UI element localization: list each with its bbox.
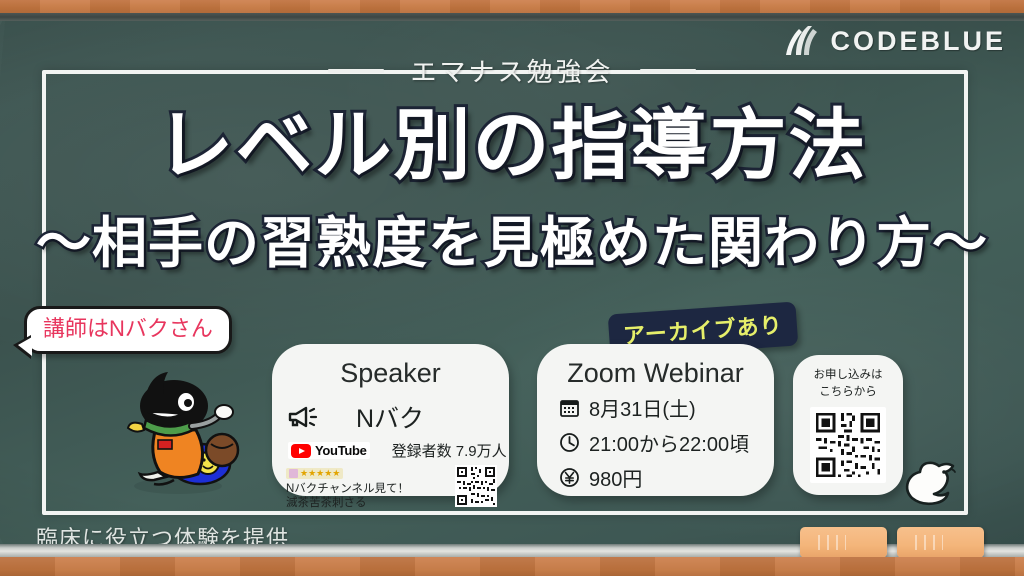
signup-qr-line-1: お申し込みは (793, 355, 903, 384)
reviewer-avatar (289, 469, 298, 478)
fox-illustration (903, 460, 961, 510)
flyer-canvas: CODEBLUE エマナス勉強会 レベル別の指導方法 〜相手の習熟度を見極めた関… (0, 0, 1024, 576)
speaker-review-row: ★★★★★ Nバクチャンネル見て！ 滅茶苦茶刺さる (272, 461, 509, 510)
wall-bottom-strip (0, 557, 1024, 576)
review-stars-badge: ★★★★★ (286, 468, 343, 479)
webinar-price-text: 980円 (589, 463, 642, 492)
eyebrow-text: エマナス勉強会 (410, 52, 613, 89)
chalk-eraser (897, 527, 984, 558)
review-line-1: Nバクチャンネル見て！ (286, 483, 449, 497)
speaker-review: ★★★★★ Nバクチャンネル見て！ 滅茶苦茶刺さる (286, 465, 449, 510)
signup-qr-code[interactable] (810, 407, 886, 483)
wall-top-strip (0, 0, 1024, 13)
eyebrow-rule-left (328, 69, 384, 73)
speaker-card-title: Speaker (272, 344, 509, 387)
brand-logo-text: CODEBLUE (830, 28, 1006, 55)
speaker-youtube-row: YouTube 登録者数 7.9万人 (272, 440, 509, 461)
chalk-eraser (800, 527, 887, 558)
megaphone-icon (288, 405, 318, 429)
page-title: レベル別の指導方法 (0, 108, 1024, 185)
youtube-wordmark: YouTube (315, 443, 367, 458)
speaker-name-row: Nバク (272, 399, 509, 435)
calendar-icon (559, 397, 580, 418)
page-subtitle: 〜相手の習熟度を見極めた関わり方〜 (0, 216, 1024, 271)
webinar-time-text: 21:00から22:00頃 (589, 428, 749, 457)
speech-bubble-text: 講師はNバクさん (43, 317, 213, 341)
speaker-name: Nバク (356, 399, 424, 435)
webinar-time-row: 21:00から22:00頃 (537, 428, 774, 457)
subscriber-count: 登録者数 7.9万人 (392, 440, 507, 461)
webinar-card-title: Zoom Webinar (537, 344, 774, 387)
review-stars: ★★★★★ (300, 468, 340, 479)
speech-bubble: 講師はNバクさん (24, 306, 232, 354)
speaker-qr-code[interactable] (455, 465, 497, 507)
webinar-date-row: 8月31日(土) (537, 393, 774, 422)
speaker-card: Speaker Nバク YouTube 登録者数 7.9万人 ★★★★★ (272, 344, 509, 496)
webinar-price-row: 980円 (537, 463, 774, 492)
review-line-2: 滅茶苦茶刺さる (286, 497, 449, 511)
youtube-logo: YouTube (288, 442, 370, 459)
webinar-card: Zoom Webinar 8月31日(土) 21:00から22:00頃 980円 (537, 344, 774, 496)
nbaku-character-illustration (112, 368, 244, 498)
yen-icon (559, 467, 580, 488)
webinar-date-text: 8月31日(土) (589, 393, 696, 422)
youtube-play-icon (291, 444, 311, 458)
board-frame-top (0, 13, 1024, 21)
signup-qr-card[interactable]: お申し込みは こちらから (793, 355, 903, 495)
speech-bubble-tail-inner (18, 337, 32, 356)
signup-qr-line-2: こちらから (793, 384, 903, 401)
clock-icon (559, 432, 580, 453)
eyebrow-row: エマナス勉強会 (0, 52, 1024, 89)
eyebrow-rule-right (640, 69, 696, 73)
